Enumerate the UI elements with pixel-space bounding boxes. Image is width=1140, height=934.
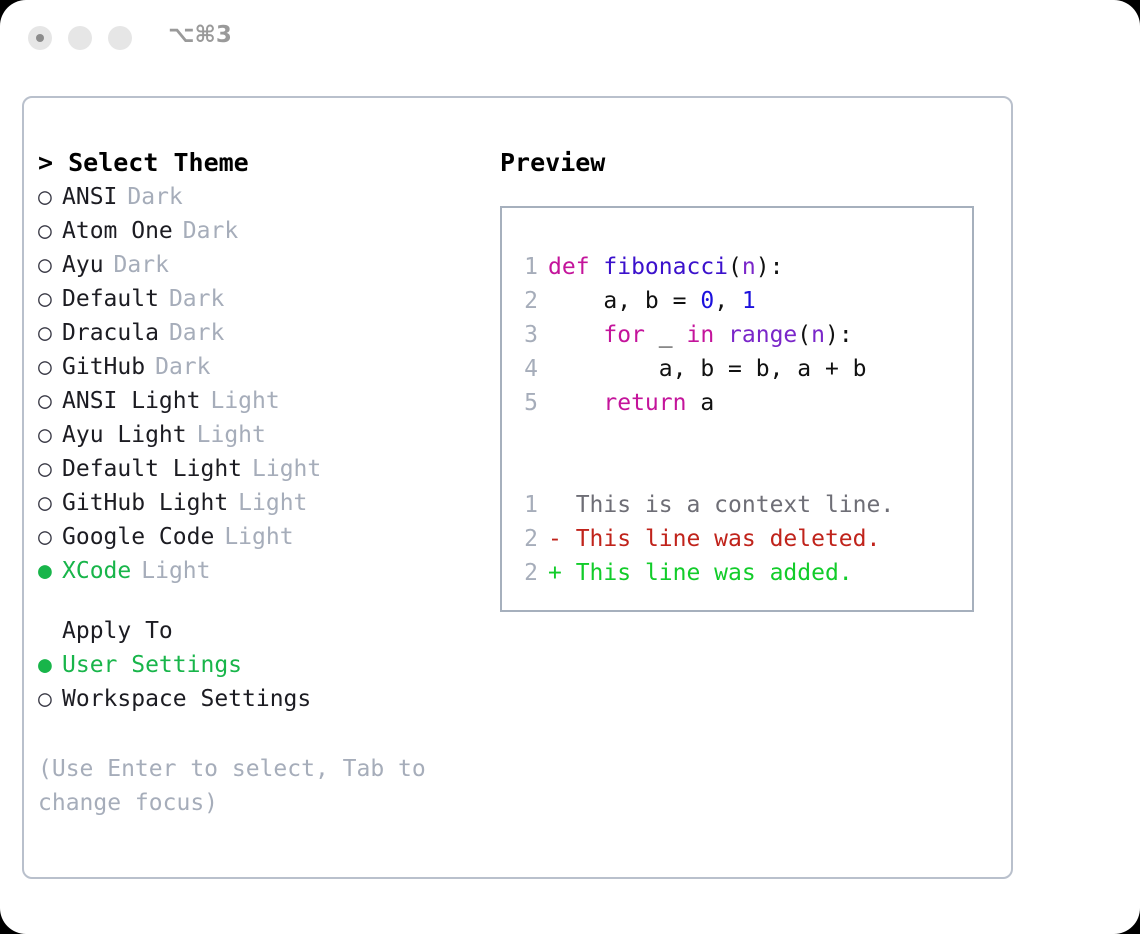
code-line: 5 return a	[502, 386, 972, 420]
code-token: a	[686, 390, 714, 416]
theme-option-label: ANSI	[62, 180, 117, 214]
preview-heading: Preview	[500, 146, 1000, 180]
theme-option-tag: Dark	[127, 180, 182, 214]
record-indicator-icon[interactable]	[28, 26, 52, 50]
spacer	[38, 588, 488, 614]
apply-to-list: ● User Settings ○ Workspace Settings	[38, 648, 488, 716]
radio-on-icon: ●	[38, 554, 62, 588]
radio-off-icon: ○	[38, 384, 62, 418]
theme-option-label: Default	[62, 282, 159, 316]
window-control-dot-3-icon[interactable]	[108, 26, 132, 50]
panel-columns: > Select Theme ○ ANSI Dark ○ Atom One Da…	[24, 98, 1011, 877]
theme-option-tag: Light	[252, 452, 321, 486]
code-token	[548, 322, 603, 348]
theme-option-label: Google Code	[62, 520, 214, 554]
code-content: def fibonacci(n):	[548, 250, 783, 284]
line-number: 5	[502, 386, 548, 420]
radio-off-icon: ○	[38, 282, 62, 316]
code-token	[548, 390, 603, 416]
theme-option-ayu-light[interactable]: ○ Ayu Light Light	[38, 418, 488, 452]
diff-sign: +	[548, 556, 576, 590]
theme-option-tag: Light	[210, 384, 279, 418]
theme-option-label: ANSI Light	[62, 384, 200, 418]
app-window: ⌥⌘3 > Select Theme ○ ANSI Dark ○ Atom On…	[0, 0, 1140, 934]
line-number: 2	[502, 284, 548, 318]
theme-option-label: Default Light	[62, 452, 242, 486]
theme-option-label: GitHub	[62, 350, 145, 384]
apply-to-heading: Apply To	[38, 614, 488, 648]
theme-option-label: Atom One	[62, 214, 173, 248]
theme-list: ○ ANSI Dark ○ Atom One Dark ○ Ayu Dark	[38, 180, 488, 588]
code-token: ):	[825, 322, 853, 348]
apply-to-option-user-settings[interactable]: ● User Settings	[38, 648, 488, 682]
theme-option-ansi[interactable]: ○ ANSI Dark	[38, 180, 488, 214]
diff-sign	[548, 488, 576, 522]
theme-option-tag: Dark	[169, 316, 224, 350]
code-token	[714, 322, 728, 348]
theme-option-ansi-light[interactable]: ○ ANSI Light Light	[38, 384, 488, 418]
preview-box: 1 def fibonacci(n): 2 a, b = 0, 1 3 for …	[500, 206, 974, 612]
code-token: range	[728, 322, 797, 348]
code-token: a, b = b, a + b	[548, 356, 867, 382]
record-dot-icon	[36, 34, 44, 42]
title-bar: ⌥⌘3	[0, 0, 1140, 78]
code-token: n	[742, 254, 756, 280]
radio-off-icon: ○	[38, 682, 62, 716]
code-content: a, b = b, a + b	[548, 352, 867, 386]
diff-text: This line was deleted.	[576, 522, 881, 556]
theme-option-atom-one[interactable]: ○ Atom One Dark	[38, 214, 488, 248]
theme-option-label: Ayu Light	[62, 418, 187, 452]
code-token: ):	[756, 254, 784, 280]
code-line: 4 a, b = b, a + b	[502, 352, 972, 386]
theme-option-tag: Dark	[114, 248, 169, 282]
code-token: def	[548, 254, 603, 280]
radio-off-icon: ○	[38, 350, 62, 384]
line-number: 1	[502, 250, 548, 284]
code-token: for	[603, 322, 645, 348]
theme-option-tag: Dark	[155, 350, 210, 384]
code-token: _	[645, 322, 687, 348]
diff-line-deleted: 2 - This line was deleted.	[502, 522, 972, 556]
theme-option-github[interactable]: ○ GitHub Dark	[38, 350, 488, 384]
code-content: for _ in range(n):	[548, 318, 853, 352]
theme-option-label: Ayu	[62, 248, 104, 282]
keyboard-hint-text: (Use Enter to select, Tab to change focu…	[38, 752, 438, 820]
apply-to-option-label: User Settings	[62, 648, 242, 682]
radio-off-icon: ○	[38, 248, 62, 282]
select-theme-heading: > Select Theme	[38, 146, 488, 180]
theme-option-tag: Dark	[169, 282, 224, 316]
code-content: return a	[548, 386, 714, 420]
diff-sign: -	[548, 522, 576, 556]
diff-line-context: 1 This is a context line.	[502, 488, 972, 522]
theme-option-tag: Light	[141, 554, 210, 588]
diff-text: This line was added.	[576, 556, 853, 590]
code-token: a, b =	[548, 288, 700, 314]
radio-off-icon: ○	[38, 486, 62, 520]
code-token: (	[728, 254, 742, 280]
code-token: fibonacci	[603, 254, 728, 280]
radio-off-icon: ○	[38, 520, 62, 554]
code-token: n	[811, 322, 825, 348]
theme-option-tag: Light	[224, 520, 293, 554]
theme-option-dracula[interactable]: ○ Dracula Dark	[38, 316, 488, 350]
code-token: in	[686, 322, 714, 348]
keyboard-shortcut-label: ⌥⌘3	[168, 22, 232, 48]
theme-option-label: GitHub Light	[62, 486, 228, 520]
diff-line-added: 2 + This line was added.	[502, 556, 972, 590]
theme-option-default-light[interactable]: ○ Default Light Light	[38, 452, 488, 486]
apply-to-option-label: Workspace Settings	[62, 682, 311, 716]
theme-option-default[interactable]: ○ Default Dark	[38, 282, 488, 316]
theme-selection-column: > Select Theme ○ ANSI Dark ○ Atom One Da…	[38, 146, 488, 820]
theme-option-tag: Dark	[183, 214, 238, 248]
code-content: a, b = 0, 1	[548, 284, 756, 318]
blank-line	[502, 454, 972, 488]
diff-text: This is a context line.	[576, 488, 895, 522]
code-line: 1 def fibonacci(n):	[502, 250, 972, 284]
theme-option-label: XCode	[62, 554, 131, 588]
line-number: 2	[502, 522, 548, 556]
theme-option-tag: Light	[197, 418, 266, 452]
line-number: 1	[502, 488, 548, 522]
window-controls	[28, 26, 132, 50]
line-number: 4	[502, 352, 548, 386]
radio-off-icon: ○	[38, 214, 62, 248]
line-number: 3	[502, 318, 548, 352]
apply-to-option-workspace-settings[interactable]: ○ Workspace Settings	[38, 682, 488, 716]
code-token: ,	[714, 288, 742, 314]
code-line: 3 for _ in range(n):	[502, 318, 972, 352]
theme-option-ayu[interactable]: ○ Ayu Dark	[38, 248, 488, 282]
window-control-dot-2-icon[interactable]	[68, 26, 92, 50]
radio-off-icon: ○	[38, 452, 62, 486]
theme-option-tag: Light	[238, 486, 307, 520]
code-token: (	[797, 322, 811, 348]
radio-on-icon: ●	[38, 648, 62, 682]
spacer	[38, 716, 488, 752]
theme-option-label: Dracula	[62, 316, 159, 350]
preview-column: Preview 1 def fibonacci(n): 2 a, b = 0, …	[500, 146, 1000, 612]
code-token: 0	[700, 288, 714, 314]
radio-off-icon: ○	[38, 316, 62, 350]
theme-option-xcode[interactable]: ● XCode Light	[38, 554, 488, 588]
code-line: 2 a, b = 0, 1	[502, 284, 972, 318]
code-token: return	[603, 390, 686, 416]
blank-line	[502, 420, 972, 454]
line-number: 2	[502, 556, 548, 590]
theme-option-github-light[interactable]: ○ GitHub Light Light	[38, 486, 488, 520]
main-panel: > Select Theme ○ ANSI Dark ○ Atom One Da…	[22, 96, 1013, 879]
theme-option-google-code[interactable]: ○ Google Code Light	[38, 520, 488, 554]
radio-off-icon: ○	[38, 180, 62, 214]
radio-off-icon: ○	[38, 418, 62, 452]
code-token: 1	[742, 288, 756, 314]
